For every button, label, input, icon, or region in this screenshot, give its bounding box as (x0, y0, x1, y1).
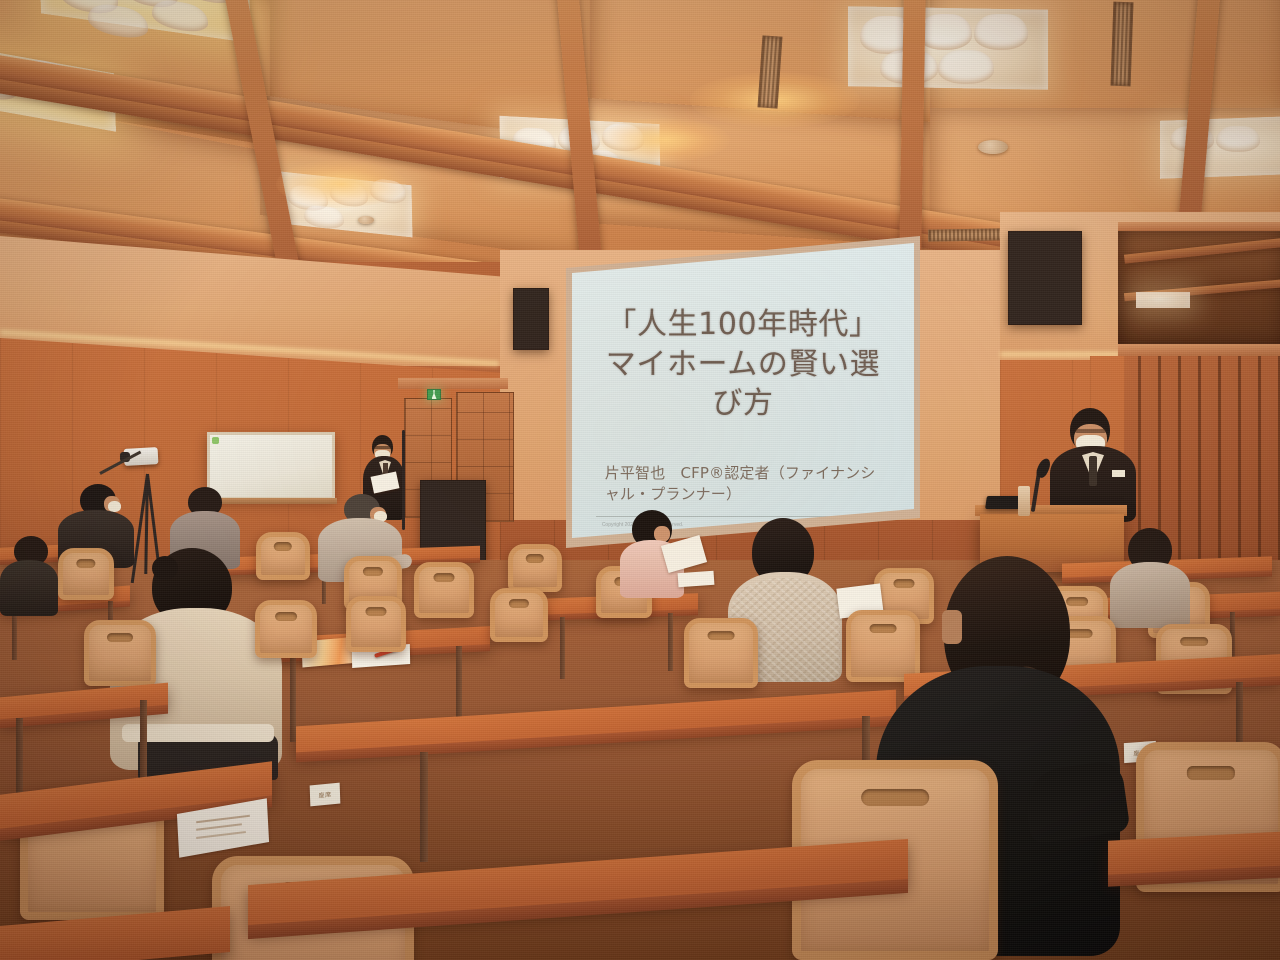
chair[interactable] (490, 588, 548, 642)
exit-sign-icon (427, 389, 441, 400)
whiteboard-magnet (212, 437, 219, 444)
chair[interactable] (414, 562, 474, 618)
chair[interactable] (58, 548, 114, 600)
chair[interactable] (508, 544, 562, 592)
mic-stand-floor (402, 430, 405, 530)
presenter (1052, 408, 1144, 518)
attendee-8 (0, 536, 58, 608)
wall-speaker-left (513, 288, 549, 350)
seminar-room-photo: 「人生100年時代」 マイホームの賢い選び方 片平智也 CFP®認定者（ファイナ… (0, 0, 1280, 960)
ceiling-air-vent (1111, 2, 1134, 87)
chair[interactable] (255, 600, 317, 658)
chair[interactable] (346, 596, 406, 652)
chair[interactable] (84, 620, 156, 686)
door-header-trim (398, 378, 508, 389)
table-placard: 座席 (310, 783, 341, 807)
wall-speaker-right (1008, 231, 1082, 325)
podium-light (1018, 486, 1030, 516)
smoke-detector-icon (358, 216, 374, 224)
attendee-handout (678, 571, 715, 587)
smoke-detector-icon (978, 140, 1008, 154)
chair[interactable] (684, 618, 758, 688)
slide-content: 「人生100年時代」 マイホームの賢い選び方 片平智也 CFP®認定者（ファイナ… (572, 243, 914, 538)
projection-screen: 「人生100年時代」 マイホームの賢い選び方 片平智也 CFP®認定者（ファイナ… (572, 243, 914, 538)
table-placard-label: 座席 (318, 789, 331, 799)
slide-title: 「人生100年時代」 マイホームの賢い選び方 (596, 305, 890, 425)
slide-presenter-line: 片平智也 CFP®認定者（ファイナンシャル・プランナー） (596, 462, 890, 504)
